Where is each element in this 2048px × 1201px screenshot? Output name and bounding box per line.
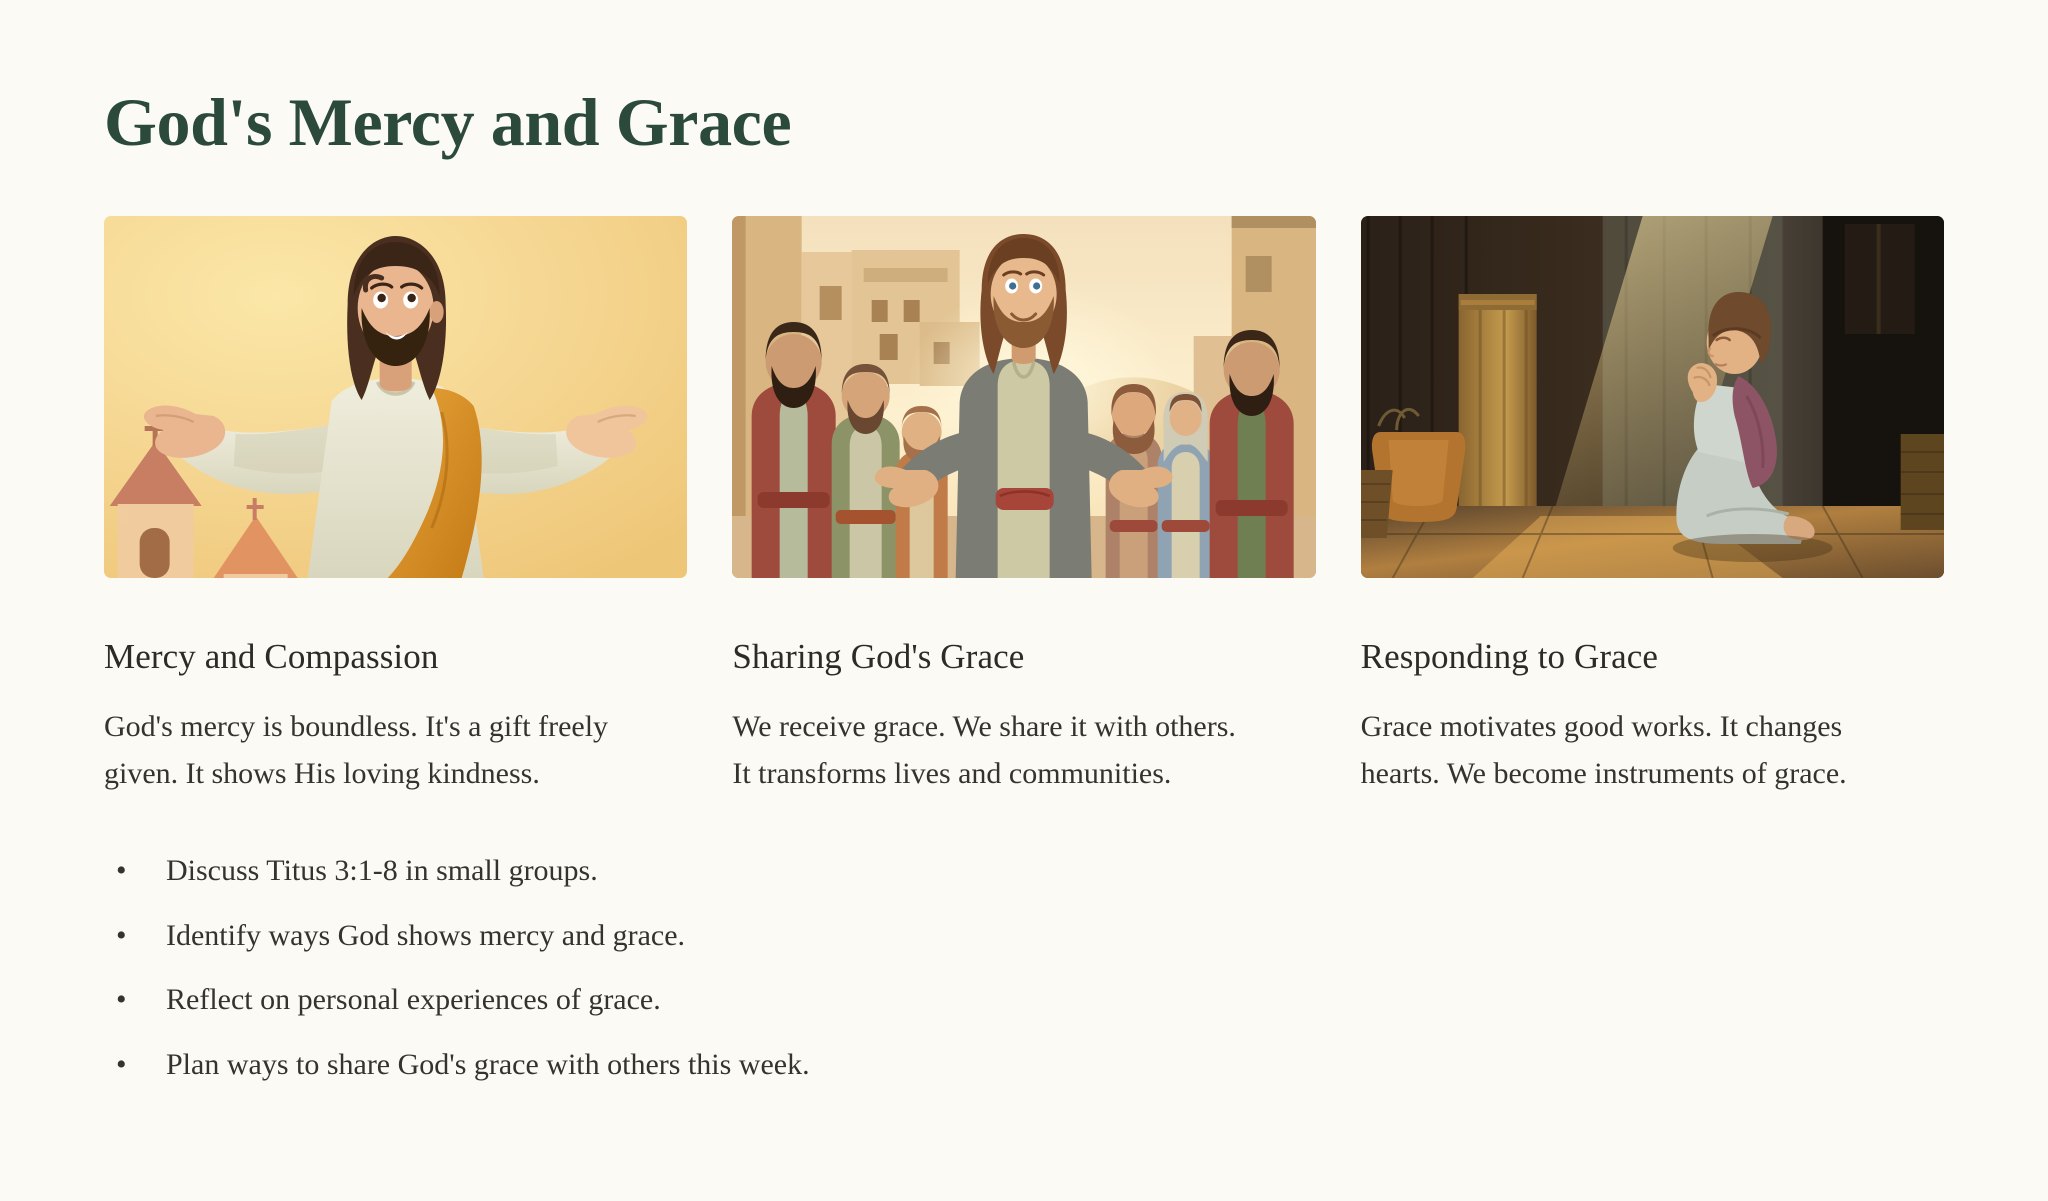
person-kneeling-in-prayer-illustration: [1361, 216, 1944, 578]
card-mercy-and-compassion: Mercy and Compassion God's mercy is boun…: [104, 216, 687, 797]
card-text: God's mercy is boundless. It's a gift fr…: [104, 704, 614, 797]
card-text: Grace motivates good works. It changes h…: [1361, 704, 1871, 797]
task-list: • Discuss Titus 3:1-8 in small groups. •…: [104, 849, 1944, 1086]
card-title: Responding to Grace: [1361, 636, 1944, 678]
list-item: • Discuss Titus 3:1-8 in small groups.: [116, 849, 1944, 893]
card-title: Sharing God's Grace: [732, 636, 1315, 678]
task-label: Reflect on personal experiences of grace…: [166, 978, 1944, 1022]
jesus-open-arms-illustration: [104, 216, 687, 578]
task-label: Plan ways to share God's grace with othe…: [166, 1043, 1944, 1087]
bullet-icon: •: [116, 849, 166, 893]
jesus-with-crowd-illustration: [732, 216, 1315, 578]
card-text: We receive grace. We share it with other…: [732, 704, 1242, 797]
card-grid: Mercy and Compassion God's mercy is boun…: [104, 216, 1944, 797]
task-label: Discuss Titus 3:1-8 in small groups.: [166, 849, 1944, 893]
lesson-page: God's Mercy and Grace: [0, 0, 2048, 1201]
list-item: • Plan ways to share God's grace with ot…: [116, 1043, 1944, 1087]
page-title: God's Mercy and Grace: [104, 86, 1944, 159]
bullet-icon: •: [116, 978, 166, 1022]
card-responding-to-grace: Responding to Grace Grace motivates good…: [1361, 216, 1944, 797]
card-title: Mercy and Compassion: [104, 636, 687, 678]
bullet-icon: •: [116, 914, 166, 958]
bullet-icon: •: [116, 1043, 166, 1087]
list-item: • Identify ways God shows mercy and grac…: [116, 914, 1944, 958]
list-item: • Reflect on personal experiences of gra…: [116, 978, 1944, 1022]
card-sharing-gods-grace: Sharing God's Grace We receive grace. We…: [732, 216, 1315, 797]
task-label: Identify ways God shows mercy and grace.: [166, 914, 1944, 958]
